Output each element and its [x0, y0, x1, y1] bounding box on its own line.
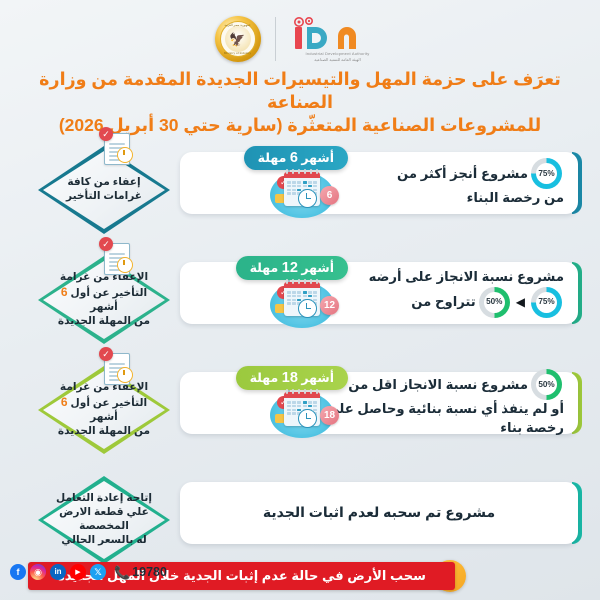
progress-donut-50: 50% — [531, 369, 562, 400]
instagram-icon[interactable]: ◉ — [30, 564, 46, 580]
diamond-line-1: إعفاء من كافة — [67, 176, 140, 188]
eagle-emblem-icon: 🦅 — [229, 33, 245, 46]
pill-label-before: مهلة — [258, 151, 287, 165]
diamond-line-3: له بالسعر الحالي — [61, 534, 147, 546]
seal-text-bottom: Ministry of Industry — [224, 51, 251, 55]
clipboard-check-icon: ✓ — [100, 350, 130, 384]
ida-wordmark-icon — [290, 16, 386, 50]
seal-text-top: جمهورية مصر العربية — [224, 23, 250, 27]
card-line-1: 50% مشروع نسبة الانجاز اقل من — [348, 369, 564, 400]
facebook-icon[interactable]: f — [10, 564, 26, 580]
benefit-row: مشروع تم سحبه لعدم اثبات الجدية إتاحة إع… — [0, 470, 600, 570]
benefit-row: مشروع نسبة الانجاز على أرضه 75% ◀ 50% تت… — [0, 250, 600, 350]
calendar-rings — [286, 389, 318, 394]
diamond-line-3: من المهلة الجديدة — [58, 425, 150, 437]
phone-number: 19780 — [132, 565, 167, 579]
diamond-line-2: التأخير عن أول 6 أشهر — [61, 397, 147, 423]
progress-donut-75: 75% — [531, 158, 562, 189]
donut-value-label: 75% — [536, 292, 557, 313]
card-text-line1: مشروع نسبة الانجاز اقل من — [348, 376, 528, 394]
calendar-rings — [286, 279, 318, 284]
diamond-line-1: إتاحة إعادة التعامل — [56, 492, 152, 504]
calendar-icon — [284, 282, 320, 316]
footer: سحب الأرض في حالة عدم إثبات الجدية خلال … — [0, 556, 600, 600]
benefit-diamond: الإعفاء من غرامة التأخير عن أول 6 أشهر م… — [38, 256, 170, 344]
social-links: f ◉ in ▶ 𝕏 📞 19780 — [10, 564, 167, 580]
card-text-line1: مشروع أنجز أكثر من — [397, 165, 528, 183]
donut-value-label: 75% — [536, 163, 557, 184]
clock-icon — [298, 409, 317, 428]
logo-row: Industrial Development Authority الهيئة … — [0, 0, 600, 70]
page-title: تعرَف على حزمة المهل والتيسيرات الجديدة … — [0, 68, 600, 137]
card-line-2: 75% ◀ 50% تتراوح من — [411, 287, 564, 318]
benefit-row: 75% مشروع أنجز أكثر من من رخصة البناء أش… — [0, 140, 600, 240]
seal-inner-ring: جمهورية مصر العربية 🦅 Ministry of Indust… — [220, 21, 256, 57]
linkedin-icon[interactable]: in — [50, 564, 66, 580]
calendar-rings — [286, 169, 318, 174]
card-text-line2: أو لم ينفذ أي نسبة بنائية وحاصل علي — [326, 401, 564, 416]
diamond-line-2: التأخير عن أول 6 أشهر — [61, 287, 147, 313]
pill-number: 18 — [282, 370, 298, 386]
clipboard-check-mark-icon: ✓ — [99, 237, 113, 251]
pill-label-before: مهلة — [250, 261, 279, 275]
card-text-line2: من رخصة البناء — [467, 190, 564, 205]
calendar-illustration: ✓ 18 — [266, 386, 338, 442]
progress-donut-50: 50% — [479, 287, 510, 318]
calendar-illustration: ✓ 6 — [266, 166, 338, 222]
calendar-month-badge: 6 — [320, 186, 339, 205]
donut-value-label: 50% — [536, 374, 557, 395]
calendar-month-badge: 12 — [320, 296, 339, 315]
card-line-1: 75% مشروع أنجز أكثر من — [397, 158, 564, 189]
logo-divider — [275, 17, 276, 61]
ida-logo-subtitle-en: Industrial Development Authority — [306, 51, 370, 56]
clipboard-clock-icon — [117, 147, 133, 163]
card-text-line1: مشروع تم سحبه لعدم اثبات الجدية — [263, 504, 495, 520]
row-info-card: مشروع تم سحبه لعدم اثبات الجدية — [180, 482, 578, 544]
diamond-line-2: علي قطعة الارض المخصصة — [59, 506, 149, 532]
ida-logo-mark — [290, 16, 386, 50]
card-text-line3: رخصة بناء — [500, 420, 564, 435]
calendar-month-badge: 18 — [320, 406, 339, 425]
phone-contact[interactable]: 📞 19780 — [114, 565, 167, 579]
calendar-icon — [284, 392, 320, 426]
ida-logo-subtitle-ar: الهيئة العامة للتنمية الصناعية — [314, 57, 360, 62]
clipboard-check-icon: ✓ — [100, 130, 130, 164]
youtube-icon[interactable]: ▶ — [70, 564, 86, 580]
card-text-line2: تتراوح من — [411, 293, 475, 311]
donut-value-label: 50% — [484, 292, 505, 313]
ministry-seal-logo: جمهورية مصر العربية 🦅 Ministry of Indust… — [215, 16, 261, 62]
benefit-row: 50% مشروع نسبة الانجاز اقل من أو لم ينفذ… — [0, 360, 600, 460]
clock-icon — [298, 189, 317, 208]
card-text: مشروع تم سحبه لعدم اثبات الجدية — [194, 503, 564, 522]
infographic-page: Industrial Development Authority الهيئة … — [0, 0, 600, 600]
benefit-diamond: إتاحة إعادة التعامل علي قطعة الارض المخص… — [38, 476, 170, 564]
clock-icon — [298, 299, 317, 318]
pill-label-before: مهلة — [250, 371, 279, 385]
pill-label-after: أشهر — [301, 261, 334, 275]
benefit-diamond: الإعفاء من غرامة التأخير عن أول 6 أشهر م… — [38, 366, 170, 454]
progress-donut-75: 75% — [531, 287, 562, 318]
clipboard-clock-icon — [117, 257, 133, 273]
header: Industrial Development Authority الهيئة … — [0, 0, 600, 132]
pill-label-after: أشهر — [301, 371, 334, 385]
diamond-line-3: من المهلة الجديدة — [58, 315, 150, 327]
card-text-line1: مشروع نسبة الانجاز على أرضه — [369, 269, 564, 284]
pill-number: 12 — [282, 260, 298, 276]
page-title-line1: تعرَف على حزمة المهل والتيسيرات الجديدة … — [39, 69, 561, 112]
phone-icon: 📞 — [114, 566, 130, 579]
calendar-illustration: ✓ 12 — [266, 276, 338, 332]
row-info-card: 75% مشروع أنجز أكثر من من رخصة البناء — [180, 152, 578, 214]
clipboard-check-mark-icon: ✓ — [99, 127, 113, 141]
calendar-icon — [284, 172, 320, 206]
clipboard-clock-icon — [117, 367, 133, 383]
ida-logo: Industrial Development Authority الهيئة … — [290, 16, 386, 62]
diamond-text: إتاحة إعادة التعامل علي قطعة الارض المخص… — [38, 476, 170, 564]
clipboard-check-icon: ✓ — [100, 240, 130, 274]
twitter-icon[interactable]: 𝕏 — [90, 564, 106, 580]
diamond-line-2: غرامات التأخير — [66, 190, 142, 202]
pill-number: 6 — [290, 150, 298, 166]
benefit-diamond: إعفاء من كافة غرامات التأخير ✓ — [38, 146, 170, 234]
pill-label-after: أشهر — [301, 151, 334, 165]
arrow-left-icon: ◀ — [516, 296, 525, 308]
clipboard-check-mark-icon: ✓ — [99, 347, 113, 361]
seal-core: 🦅 — [225, 26, 251, 52]
